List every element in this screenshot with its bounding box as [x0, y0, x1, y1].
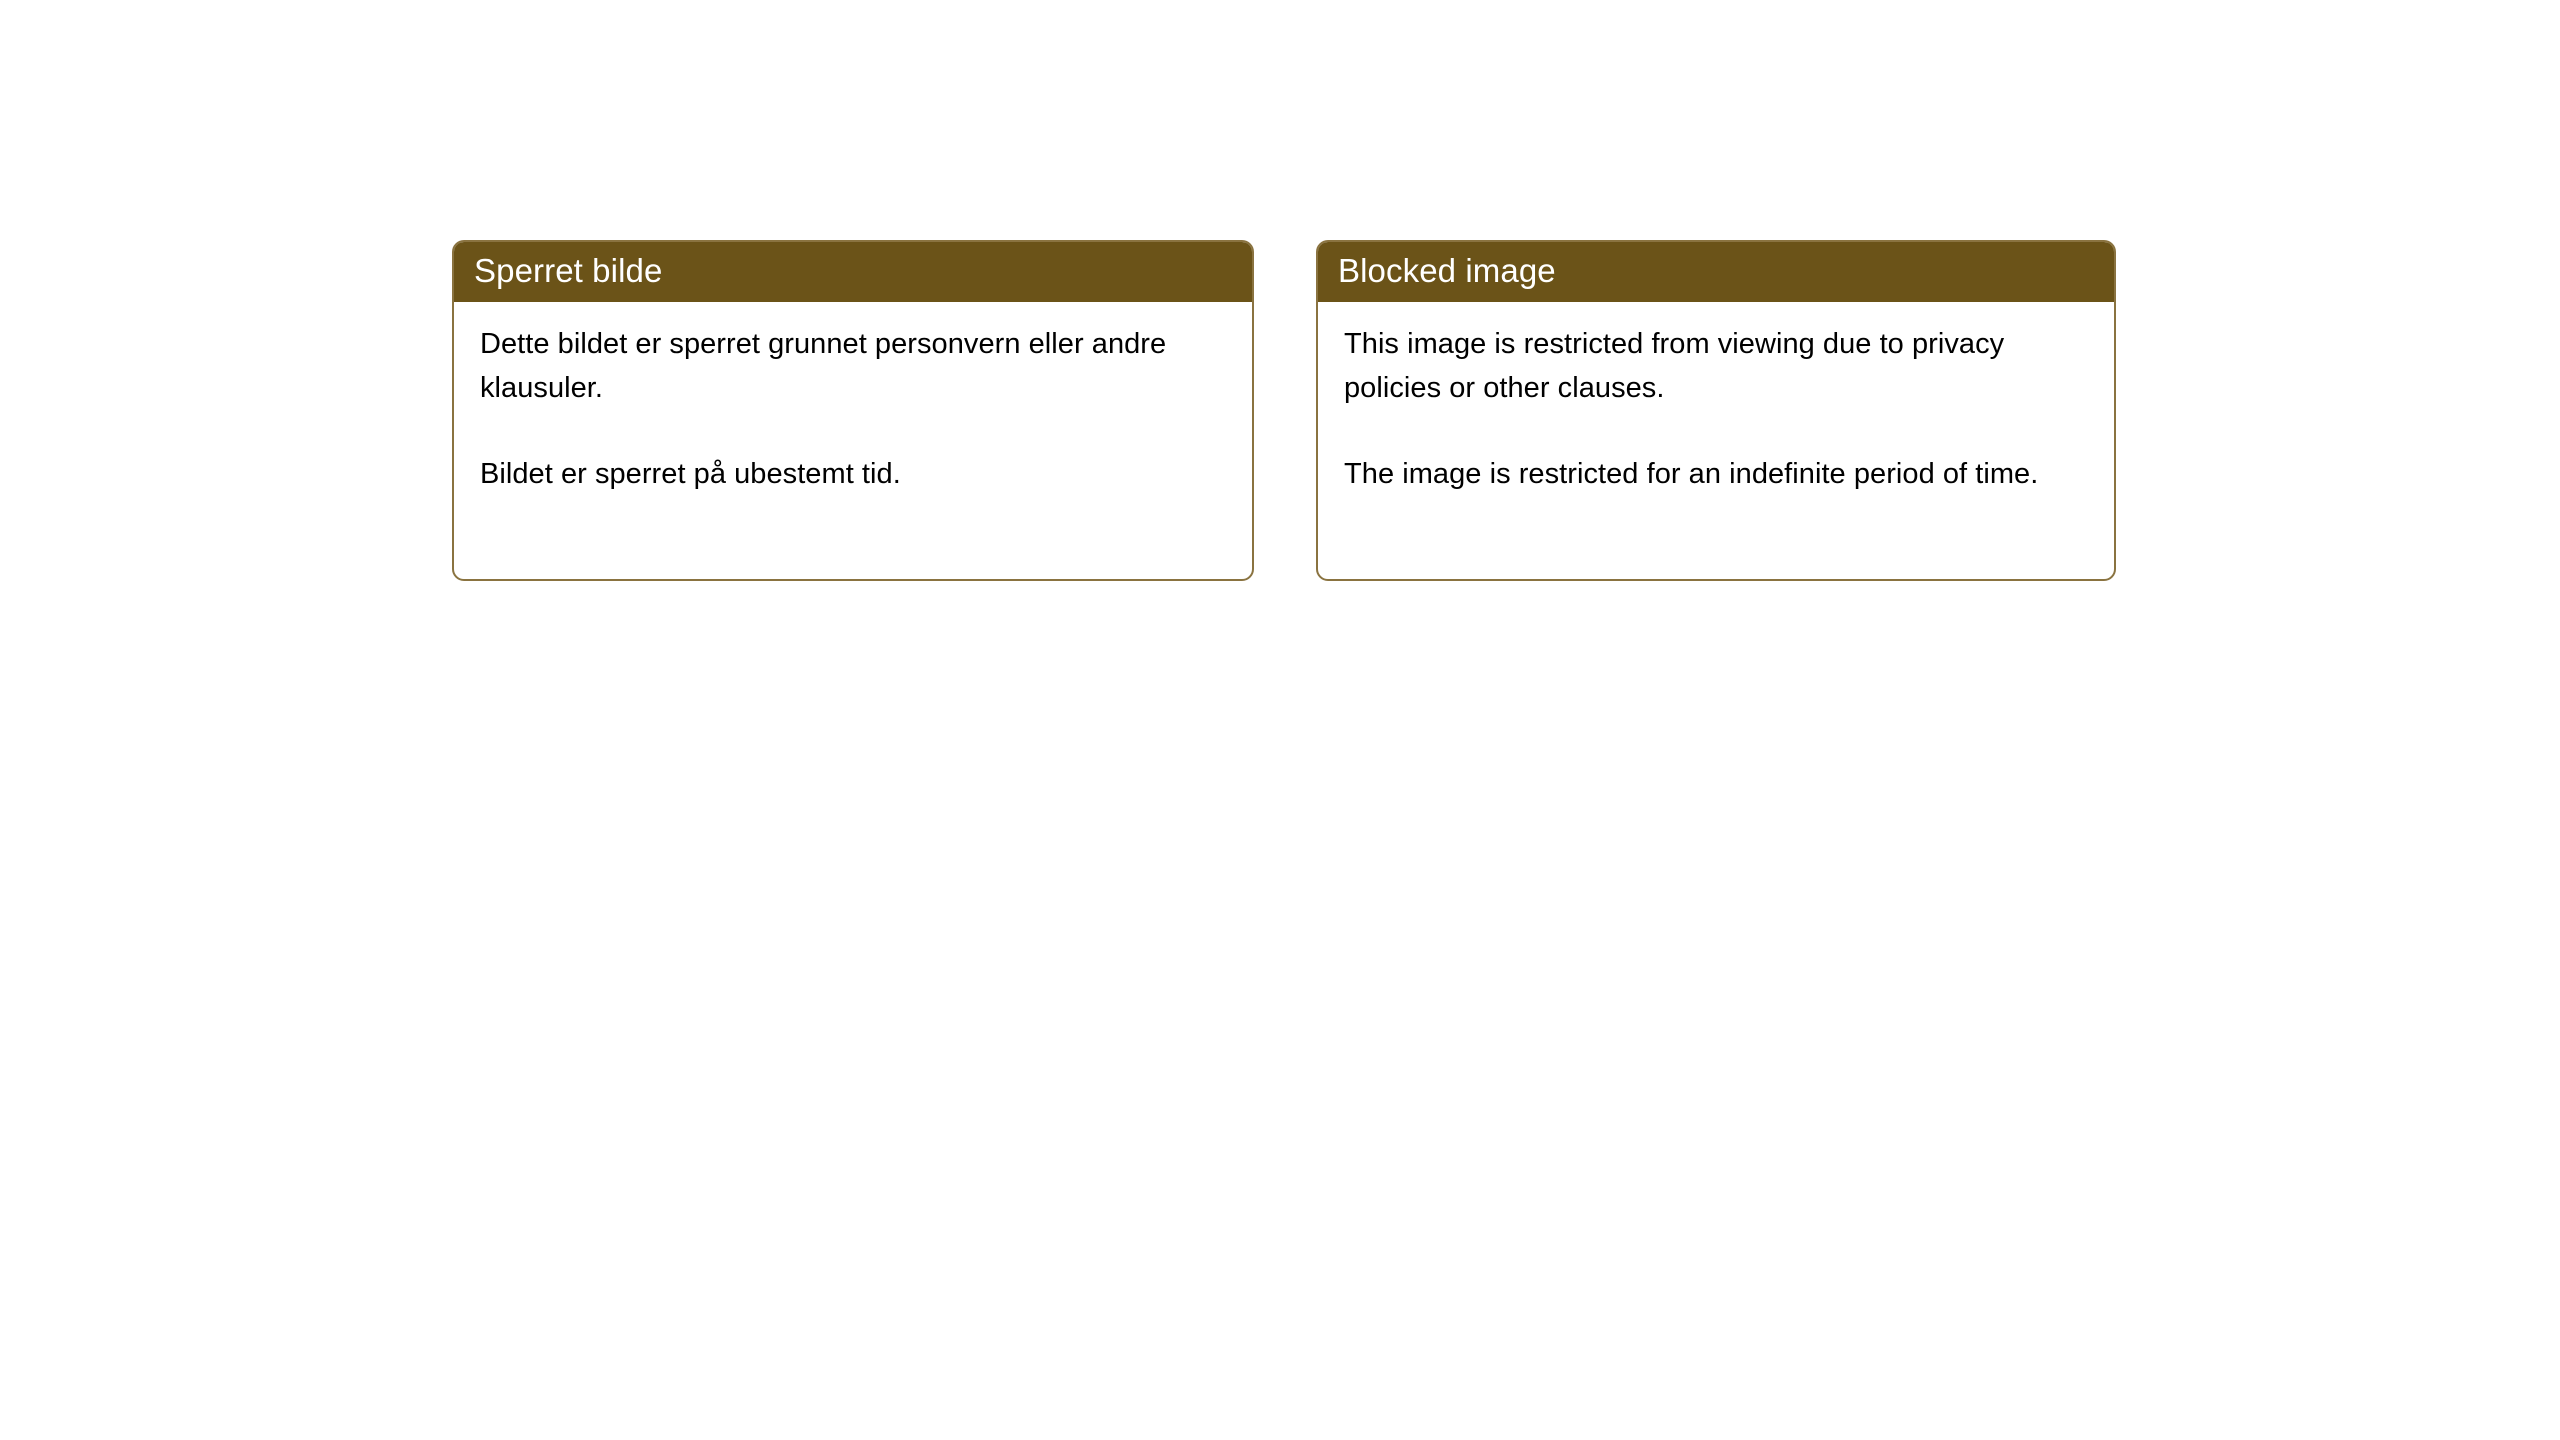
card-paragraph-primary-english: This image is restricted from viewing du… [1344, 322, 2088, 410]
card-paragraph-secondary-norwegian: Bildet er sperret på ubestemt tid. [480, 452, 1226, 496]
paragraph-spacer [480, 410, 1226, 452]
paragraph-spacer [1344, 410, 2088, 452]
card-paragraph-primary-norwegian: Dette bildet er sperret grunnet personve… [480, 322, 1226, 410]
blocked-image-card-english: Blocked image This image is restricted f… [1316, 240, 2116, 581]
card-title-english: Blocked image [1338, 252, 1556, 290]
card-header-english: Blocked image [1316, 240, 2116, 302]
card-header-norwegian: Sperret bilde [452, 240, 1254, 302]
card-body-english: This image is restricted from viewing du… [1318, 302, 2114, 579]
card-body-norwegian: Dette bildet er sperret grunnet personve… [454, 302, 1252, 579]
card-paragraph-secondary-english: The image is restricted for an indefinit… [1344, 452, 2088, 496]
notice-cards-container: Sperret bilde Dette bildet er sperret gr… [0, 0, 2560, 1440]
card-title-norwegian: Sperret bilde [474, 252, 662, 290]
blocked-image-card-norwegian: Sperret bilde Dette bildet er sperret gr… [452, 240, 1254, 581]
